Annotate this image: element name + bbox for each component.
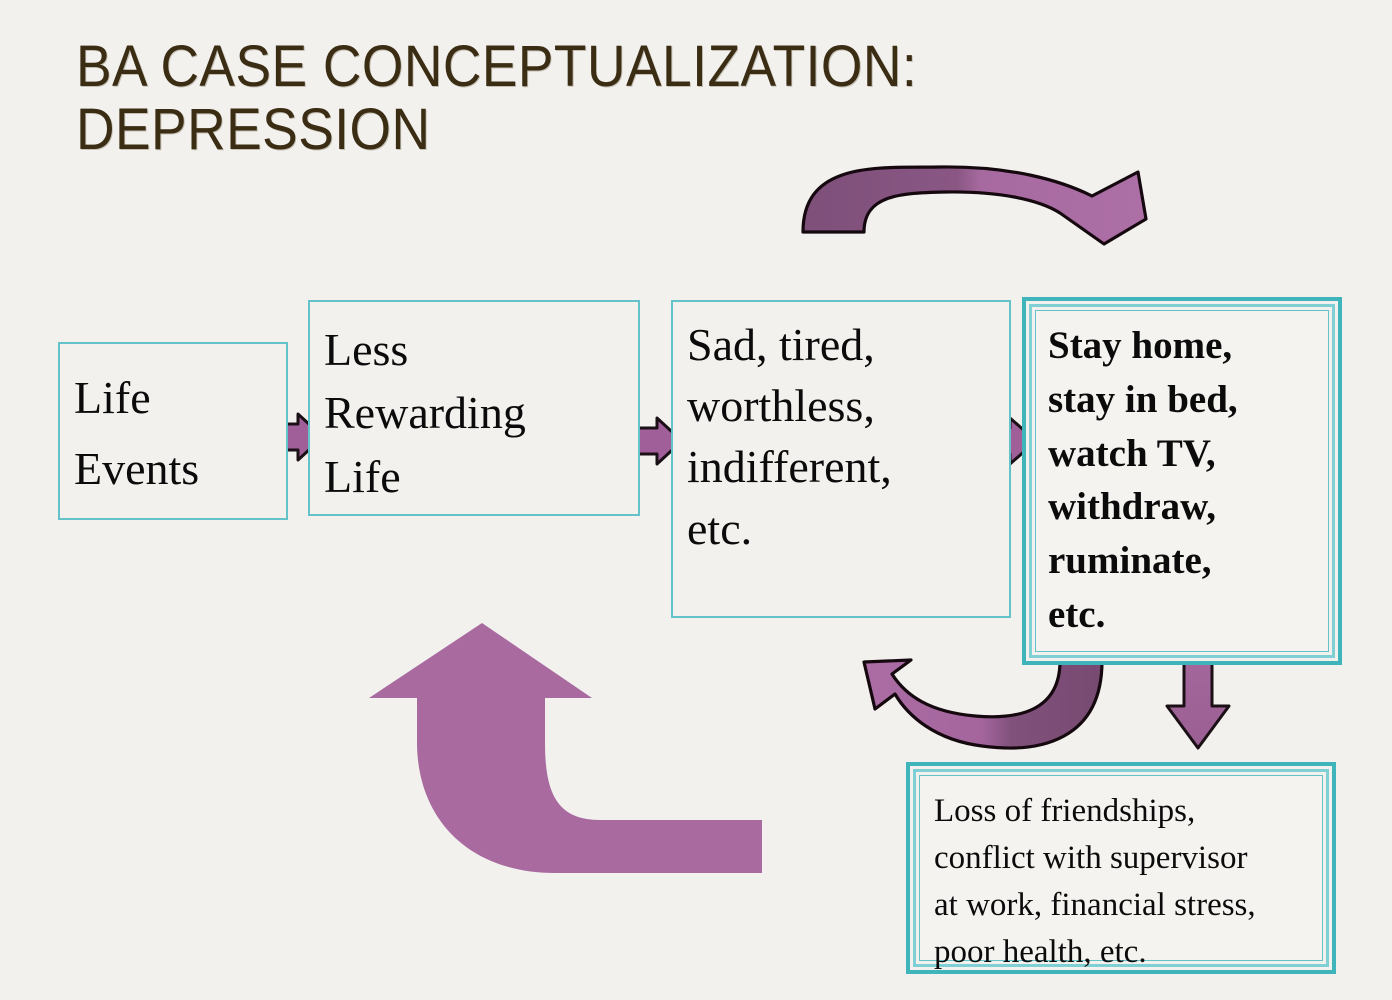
node-life-events-label: Life Events: [74, 362, 286, 505]
node-less-rewarding-life-label: Less Rewarding Life: [324, 318, 638, 508]
arrow-top-curved-bypass: [803, 167, 1146, 244]
node-consequences-label: Loss of friendships, conflict with super…: [934, 788, 1322, 975]
node-consequences-frame-inner: Loss of friendships, conflict with super…: [919, 775, 1323, 961]
slide-canvas: BA CASE CONCEPTUALIZATION: DEPRESSION: [0, 0, 1392, 1000]
node-behaviors-frame-inner: Stay home, stay in bed, watch TV, withdr…: [1035, 310, 1329, 652]
node-life-events[interactable]: Life Events: [58, 342, 288, 520]
node-behaviors-label: Stay home, stay in bed, watch TV, withdr…: [1048, 319, 1328, 642]
node-behaviors[interactable]: Stay home, stay in bed, watch TV, withdr…: [1022, 297, 1342, 665]
arrow-behaviors-feedback-left: [864, 660, 1102, 748]
node-behaviors-frame-mid: Stay home, stay in bed, watch TV, withdr…: [1029, 304, 1335, 658]
node-less-rewarding-life[interactable]: Less Rewarding Life: [308, 300, 640, 516]
node-consequences[interactable]: Loss of friendships, conflict with super…: [906, 762, 1336, 974]
arrow-consequences-to-less-rewarding: [369, 623, 762, 873]
node-symptoms[interactable]: Sad, tired, worthless, indifferent, etc.: [671, 300, 1011, 618]
page-title: BA CASE CONCEPTUALIZATION: DEPRESSION: [76, 36, 1162, 161]
node-symptoms-label: Sad, tired, worthless, indifferent, etc.: [687, 314, 1009, 559]
node-consequences-frame-mid: Loss of friendships, conflict with super…: [913, 769, 1329, 967]
